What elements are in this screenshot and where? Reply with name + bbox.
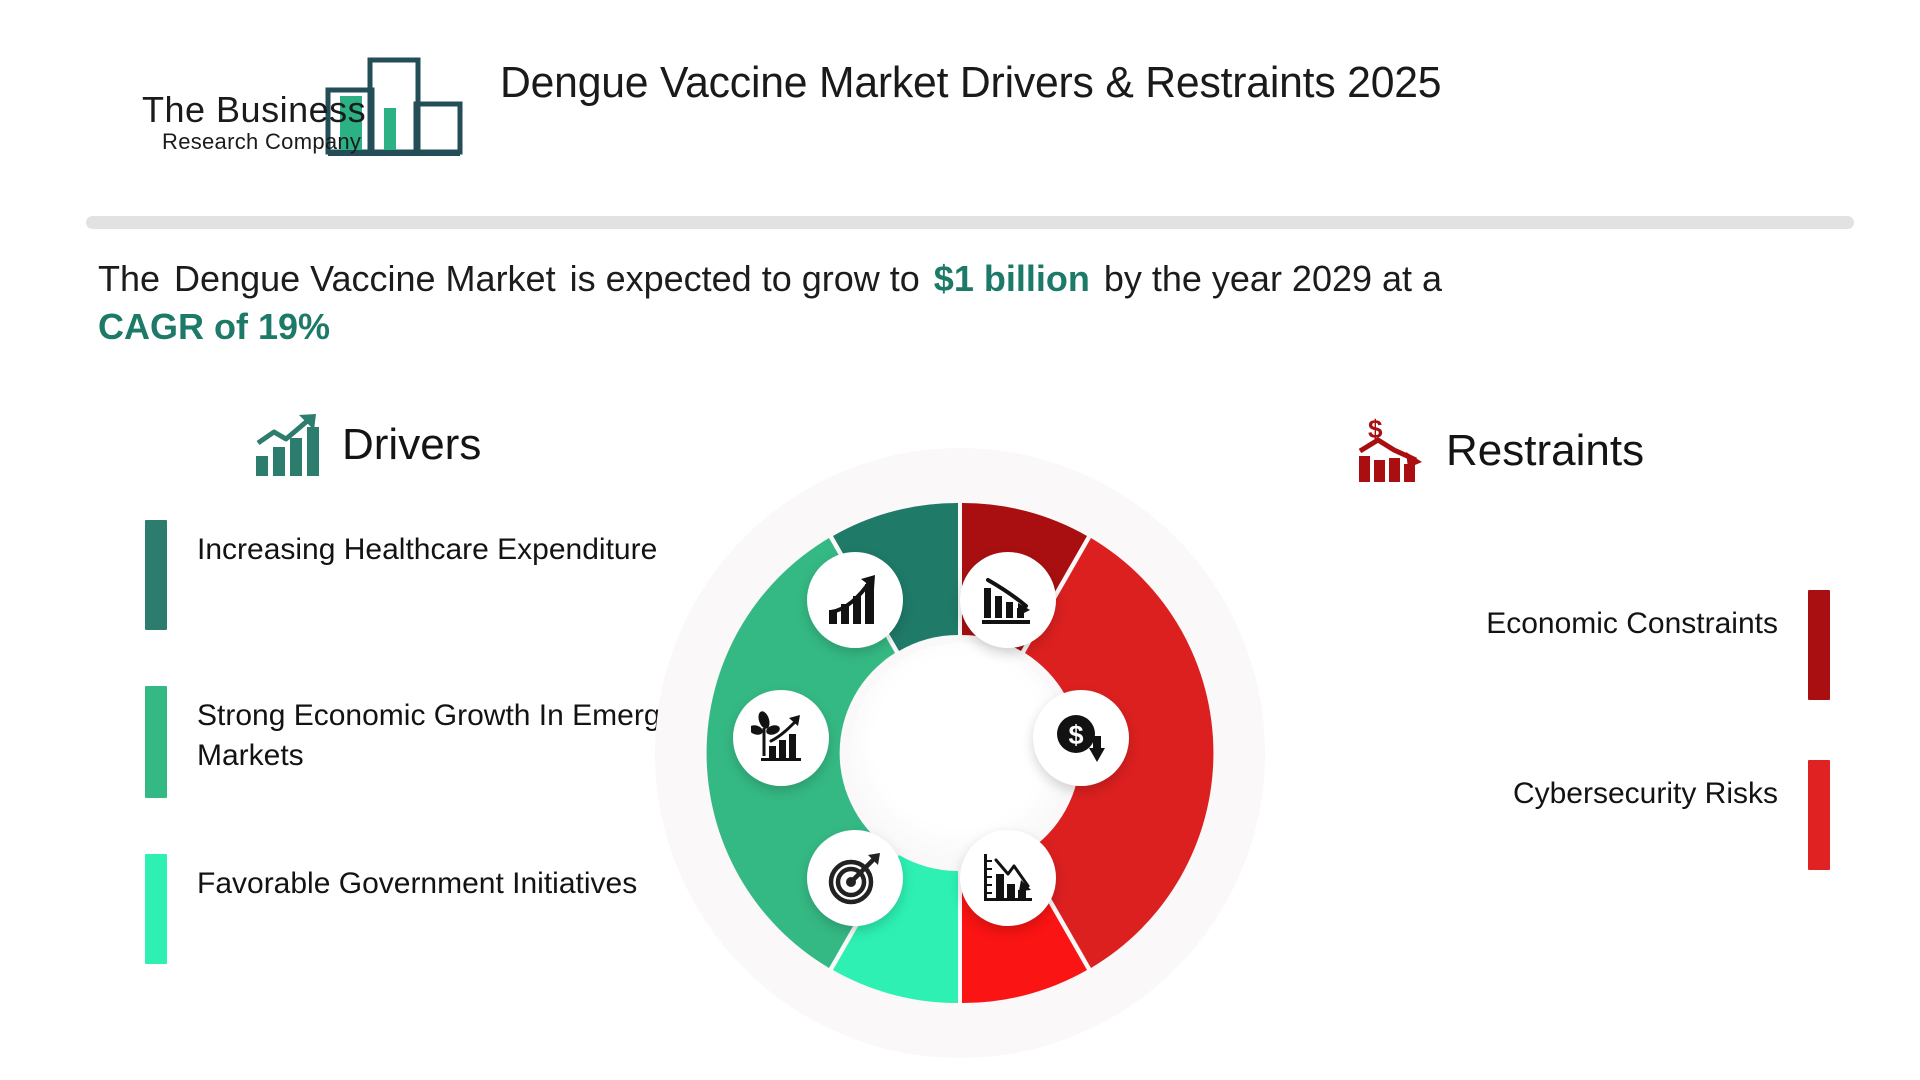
summary-part-3: by the year 2029 at a [1104, 258, 1442, 299]
summary-market-value: $1 billion [934, 258, 1090, 299]
restraint-item: Cybersecurity Risks [1380, 760, 1830, 870]
drivers-heading: Drivers [342, 423, 481, 467]
page-title: Dengue Vaccine Market Drivers & Restrain… [500, 58, 1761, 108]
svg-text:Research Company: Research Company [162, 129, 361, 154]
drivers-section-header: Drivers [252, 412, 481, 478]
restraints-heading: Restraints [1446, 429, 1644, 473]
declining-bar-chart-arrow-down-icon [960, 552, 1056, 648]
dollar-circle-arrow-down-icon: $ [1033, 690, 1129, 786]
svg-text:The Business: The Business [142, 89, 366, 130]
svg-text:$: $ [1368, 418, 1383, 444]
company-logo: The Business Research Company [132, 52, 472, 162]
svg-text:$: $ [1068, 720, 1083, 750]
falling-bar-chart-dollar-icon: $ [1356, 418, 1428, 484]
summary-part-1: The [98, 258, 160, 299]
driver-label: Favorable Government Initiatives [197, 854, 637, 904]
growth-bar-chart-arrow-up-icon [807, 552, 903, 648]
driver-accent-bar [145, 854, 167, 964]
restraint-item: Economic Constraints [1380, 590, 1830, 700]
summary-cagr: CAGR of 19% [98, 306, 330, 347]
plant-growth-chart-icon [733, 690, 829, 786]
driver-accent-bar [145, 686, 167, 798]
summary-market-name: Dengue Vaccine Market [174, 258, 556, 299]
infographic-page: The Business Research Company Dengue Vac… [0, 0, 1920, 1080]
market-summary: TheDengue Vaccine Marketis expected to g… [98, 255, 1658, 350]
restraints-section-header: $ Restraints [1356, 418, 1644, 484]
driver-label: Increasing Healthcare Expenditure [197, 520, 657, 570]
target-dartboard-arrow-icon [807, 830, 903, 926]
restraint-label: Cybersecurity Risks [1513, 760, 1778, 814]
header-divider [86, 216, 1854, 229]
restraint-accent-bar [1808, 760, 1830, 870]
declining-line-chart-axis-icon [960, 830, 1056, 926]
restraints-list: Economic Constraints Cybersecurity Risks [1380, 590, 1830, 870]
summary-part-2: is expected to grow to [570, 258, 920, 299]
restraint-accent-bar [1808, 590, 1830, 700]
drivers-restraints-wheel: $ [655, 448, 1265, 1058]
driver-accent-bar [145, 520, 167, 630]
restraint-label: Economic Constraints [1486, 590, 1778, 644]
header: The Business Research Company Dengue Vac… [0, 0, 1920, 190]
rising-bar-chart-icon [252, 412, 324, 478]
